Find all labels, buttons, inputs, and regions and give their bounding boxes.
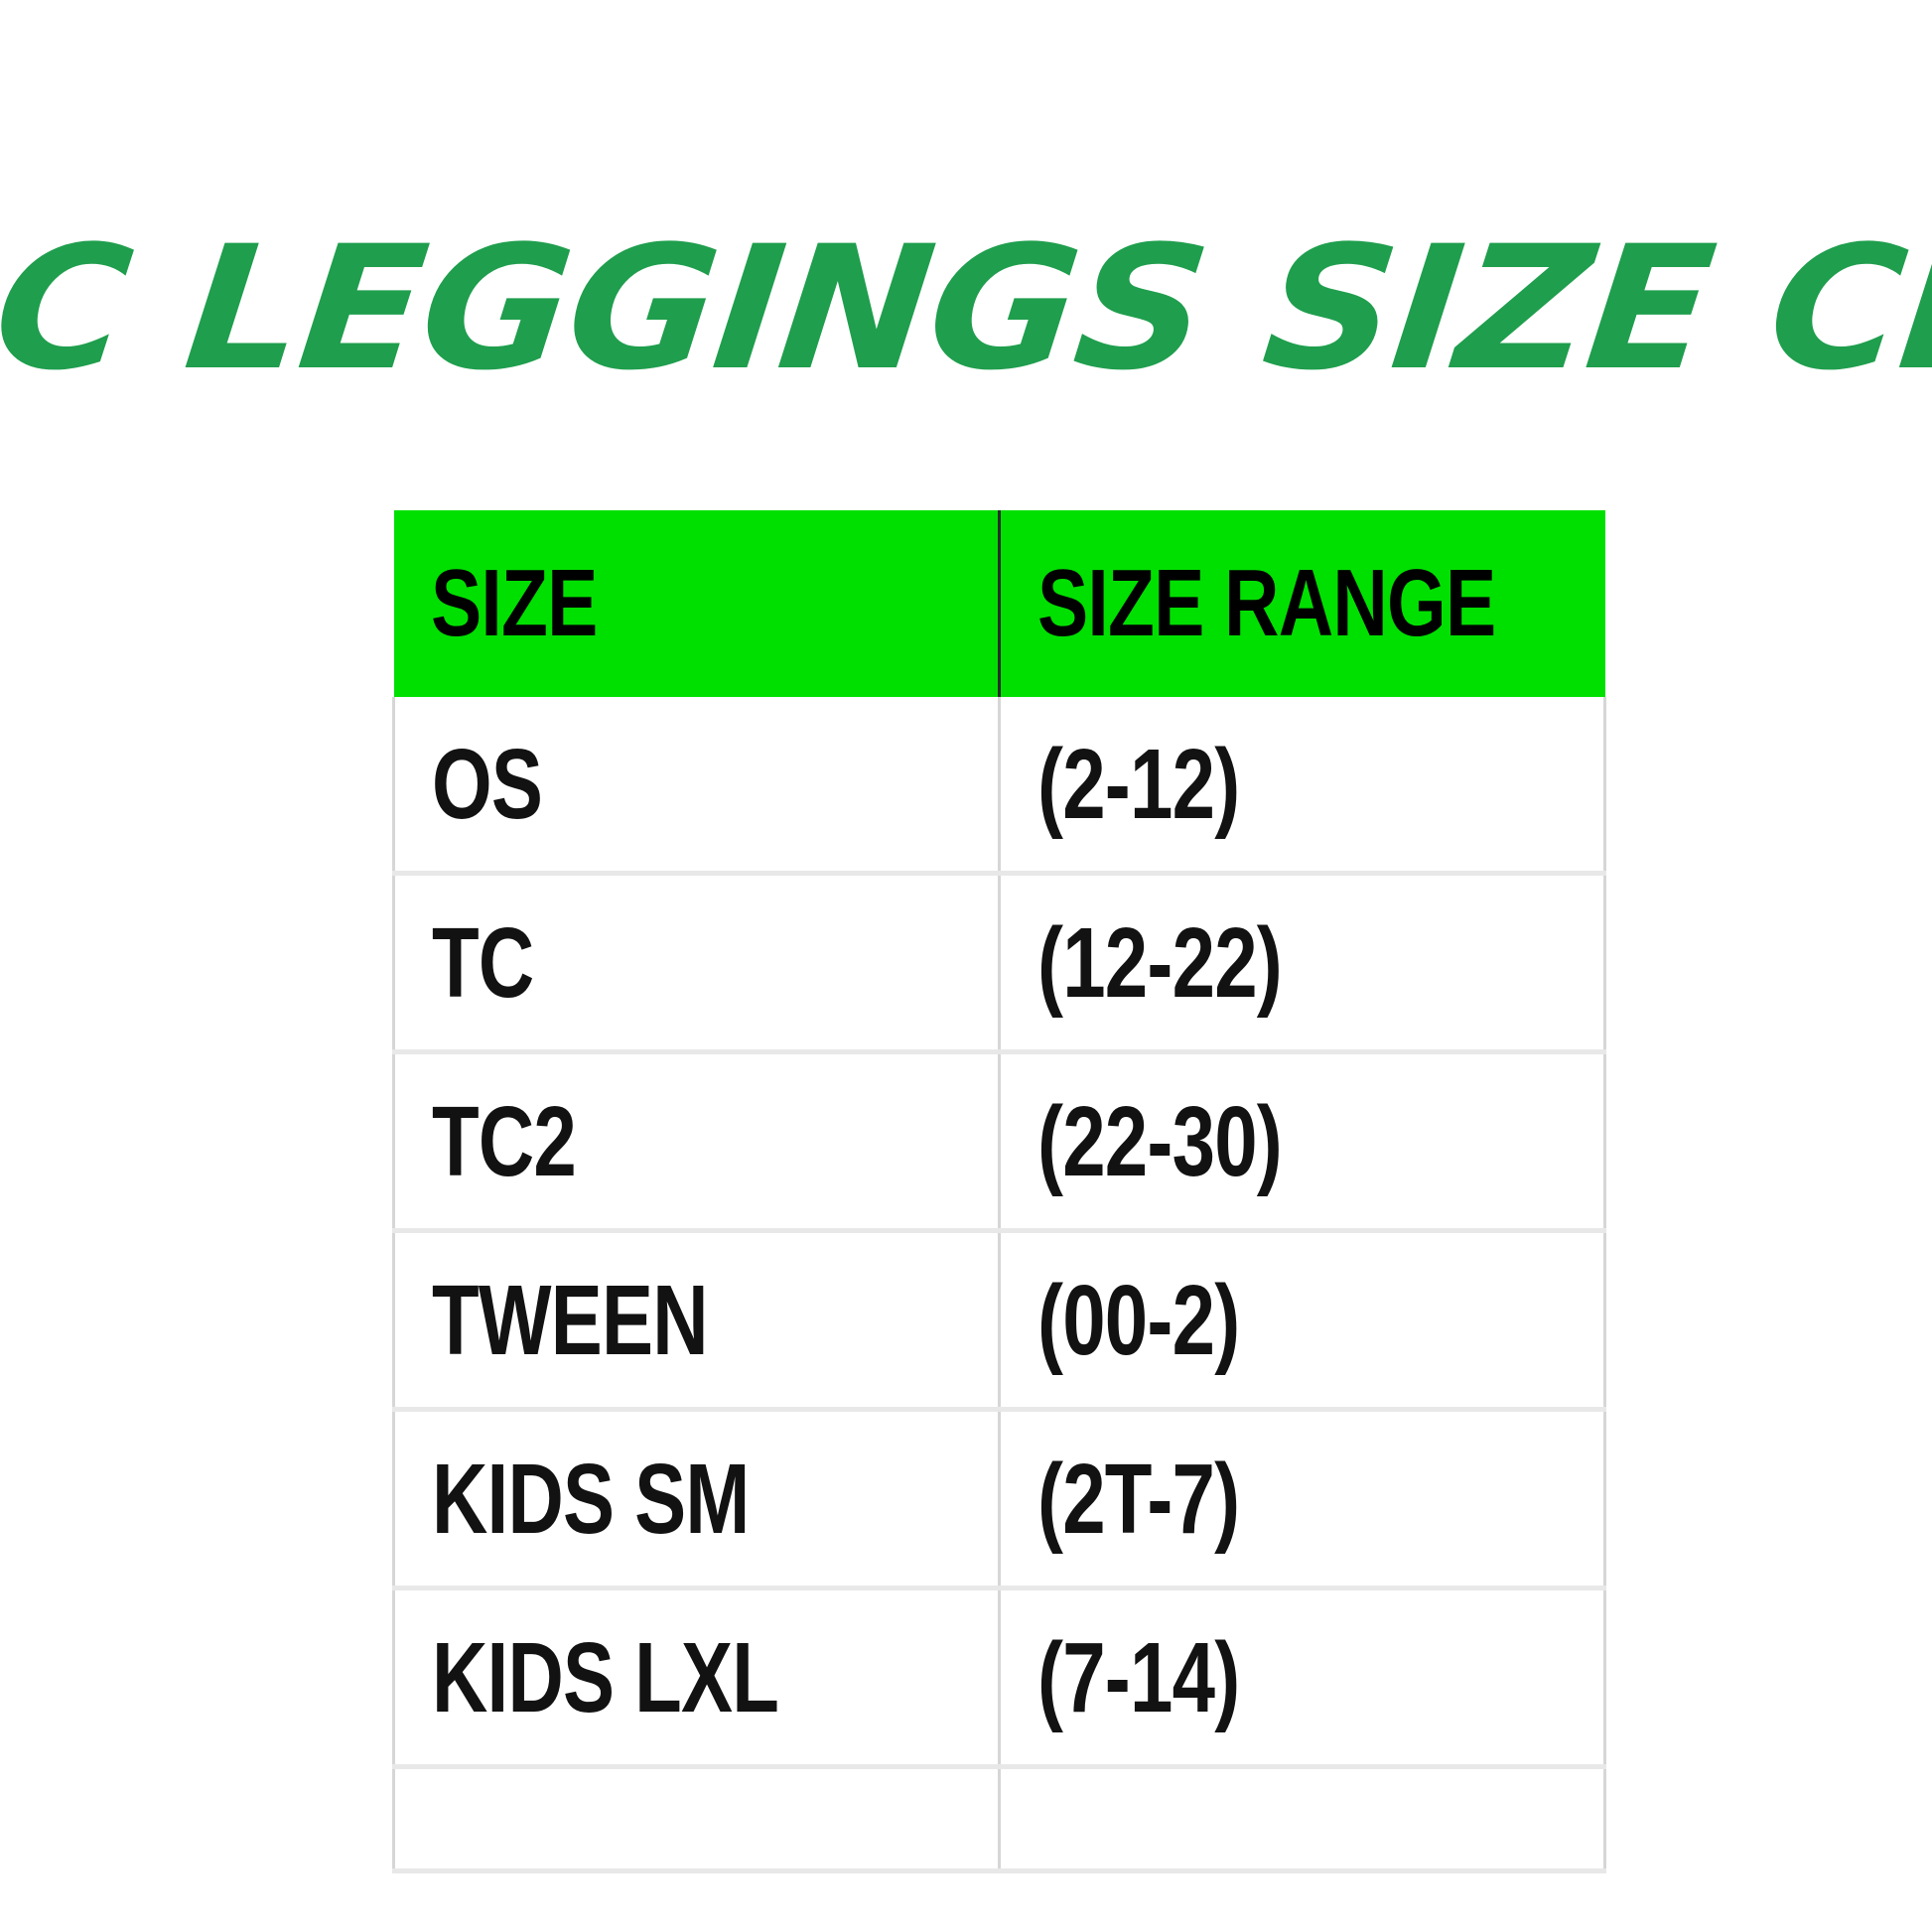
table-body: OS (2-12) TC (12-22) TC2	[394, 697, 1605, 1871]
table-header-row: SIZE SIZE RANGE	[394, 510, 1605, 697]
cell-size-value: KIDS LXL	[432, 1628, 778, 1727]
column-header-size-range: SIZE RANGE	[1000, 510, 1605, 697]
column-header-size-range-label: SIZE RANGE	[1037, 556, 1495, 651]
table-row-empty	[394, 1767, 1605, 1871]
cell-size-value: TC2	[432, 1092, 576, 1191]
size-chart-page: GCLLC LEGGINGS SIZE CHART SIZE SIZE RANG…	[0, 0, 1932, 1932]
table-row: TC2 (22-30)	[394, 1052, 1605, 1231]
table-row: TC (12-22)	[394, 874, 1605, 1052]
cell-size-range	[1000, 1767, 1605, 1871]
cell-size-value: KIDS SM	[432, 1449, 750, 1549]
table-header: SIZE SIZE RANGE	[394, 510, 1605, 697]
page-title: GCLLC LEGGINGS SIZE CHART	[0, 205, 1932, 413]
table-row: KIDS LXL (7-14)	[394, 1588, 1605, 1767]
cell-size-range: (7-14)	[1000, 1588, 1605, 1767]
size-chart-table: SIZE SIZE RANGE OS (2-12)	[392, 510, 1606, 1873]
cell-size: KIDS LXL	[394, 1588, 1000, 1767]
cell-size-range: (2-12)	[1000, 697, 1605, 874]
column-header-size: SIZE	[394, 510, 1000, 697]
cell-size-range-value: (2-12)	[1037, 735, 1239, 834]
cell-size-range: (12-22)	[1000, 874, 1605, 1052]
table-row: OS (2-12)	[394, 697, 1605, 874]
cell-size-range-value: (7-14)	[1037, 1628, 1239, 1727]
page-title-text: GCLLC LEGGINGS SIZE CHART	[0, 223, 1932, 394]
cell-size: KIDS SM	[394, 1410, 1000, 1588]
table-row: KIDS SM (2T-7)	[394, 1410, 1605, 1588]
table-row: TWEEN (00-2)	[394, 1231, 1605, 1410]
cell-size: TC2	[394, 1052, 1000, 1231]
cell-size-value: TC	[432, 913, 533, 1013]
cell-size: OS	[394, 697, 1000, 874]
cell-size-range-value: (12-22)	[1037, 913, 1282, 1013]
cell-size-value: OS	[432, 735, 542, 834]
cell-size-range-value: (00-2)	[1037, 1271, 1239, 1370]
cell-size-range: (2T-7)	[1000, 1410, 1605, 1588]
column-header-size-label: SIZE	[431, 556, 598, 651]
cell-size-range-value: (22-30)	[1037, 1092, 1282, 1191]
cell-size: TC	[394, 874, 1000, 1052]
cell-size-range: (00-2)	[1000, 1231, 1605, 1410]
cell-size-range-value: (2T-7)	[1037, 1449, 1239, 1549]
size-chart-table-container: SIZE SIZE RANGE OS (2-12)	[392, 510, 1603, 1873]
cell-size	[394, 1767, 1000, 1871]
cell-size-range: (22-30)	[1000, 1052, 1605, 1231]
cell-size: TWEEN	[394, 1231, 1000, 1410]
cell-size-value: TWEEN	[432, 1271, 708, 1370]
